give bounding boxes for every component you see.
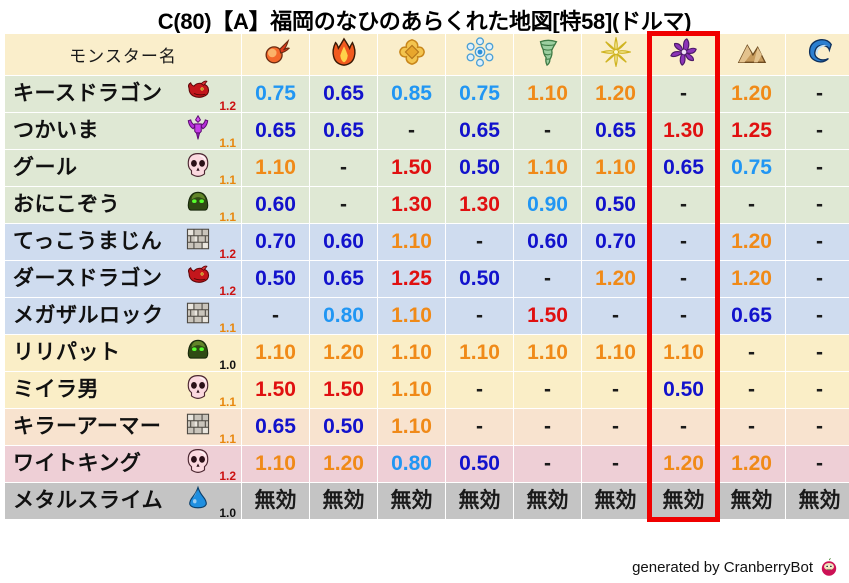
resistance-cell: - bbox=[718, 335, 785, 371]
resistance-cell: 0.50 bbox=[446, 150, 513, 186]
resistance-cell: 無効 bbox=[514, 483, 581, 519]
resistance-cell: 0.85 bbox=[378, 76, 445, 112]
resistance-cell: 1.10 bbox=[582, 150, 649, 186]
resistance-cell: - bbox=[786, 113, 849, 149]
column-header-zaki-tornado-icon[interactable] bbox=[514, 34, 581, 75]
monster-name-cell[interactable]: てっこうまじん1.2 bbox=[5, 224, 241, 260]
resistance-cell: 0.90 bbox=[514, 187, 581, 223]
resistance-cell: 1.10 bbox=[582, 335, 649, 371]
column-header-monster-name: モンスター名 bbox=[5, 34, 241, 75]
monster-name-cell[interactable]: おにこぞう1.1 bbox=[5, 187, 241, 223]
column-header-mera-fireball-icon[interactable] bbox=[242, 34, 309, 75]
table-row: メガザルロック1.1-0.801.10-1.50--0.65- bbox=[5, 298, 849, 334]
resistance-cell: - bbox=[582, 446, 649, 482]
resistance-cell: - bbox=[786, 150, 849, 186]
resistance-cell: - bbox=[786, 261, 849, 297]
resistance-cell: - bbox=[650, 224, 717, 260]
column-header-dein-starburst-icon[interactable] bbox=[582, 34, 649, 75]
jibariki-earth-icon bbox=[737, 37, 767, 67]
skull-icon bbox=[185, 448, 211, 474]
resistance-cell: - bbox=[514, 446, 581, 482]
monster-multiplier-badge: 1.1 bbox=[219, 174, 236, 186]
column-header-bagi-snowflake-icon[interactable] bbox=[446, 34, 513, 75]
resistance-cell: 1.10 bbox=[514, 76, 581, 112]
table-row: ダースドラゴン1.20.500.651.250.50-1.20-1.20- bbox=[5, 261, 849, 297]
monster-multiplier-badge: 1.1 bbox=[219, 396, 236, 408]
resistance-cell: 1.30 bbox=[650, 113, 717, 149]
resistance-cell: 0.50 bbox=[310, 409, 377, 445]
resistance-cell: 0.75 bbox=[446, 76, 513, 112]
resistance-cell: 1.50 bbox=[378, 150, 445, 186]
purple-trident-icon bbox=[185, 115, 211, 141]
monster-name-label: ダースドラゴン bbox=[13, 261, 162, 297]
resistance-cell: 1.20 bbox=[650, 446, 717, 482]
resistance-cell: 0.65 bbox=[446, 113, 513, 149]
resistance-cell: 1.10 bbox=[514, 335, 581, 371]
resistance-cell: 1.20 bbox=[582, 261, 649, 297]
table-row: キラーアーマー1.10.650.501.10------ bbox=[5, 409, 849, 445]
resistance-cell: - bbox=[446, 372, 513, 408]
resistance-cell: 1.20 bbox=[582, 76, 649, 112]
footer-credit: generated by CranberryBot bbox=[632, 557, 839, 577]
page-title: C(80)【A】福岡のなひのあらくれた地図[特58](ドルマ) bbox=[0, 4, 849, 36]
monster-multiplier-badge: 1.2 bbox=[219, 248, 236, 260]
monster-name-label: つかいま bbox=[13, 113, 99, 149]
resistance-cell: 0.50 bbox=[242, 261, 309, 297]
resistance-cell: 1.20 bbox=[310, 446, 377, 482]
resistance-cell: 1.30 bbox=[446, 187, 513, 223]
zaki-tornado-icon bbox=[533, 37, 563, 67]
monster-name-cell[interactable]: グール1.1 bbox=[5, 150, 241, 186]
resistance-cell: 無効 bbox=[786, 483, 849, 519]
merazoma-wave-icon bbox=[805, 37, 835, 67]
monster-name-label: ワイトキング bbox=[13, 446, 141, 482]
green-slime-icon bbox=[185, 337, 211, 363]
resistance-cell: - bbox=[786, 409, 849, 445]
monster-name-cell[interactable]: キラーアーマー1.1 bbox=[5, 409, 241, 445]
resistance-cell: - bbox=[786, 446, 849, 482]
resistance-cell: 1.20 bbox=[310, 335, 377, 371]
monster-multiplier-badge: 1.1 bbox=[219, 322, 236, 334]
resistance-cell: - bbox=[650, 298, 717, 334]
monster-name-label: リリパット bbox=[13, 335, 121, 371]
brick-wall-icon bbox=[185, 226, 211, 252]
resistance-cell: 0.65 bbox=[242, 409, 309, 445]
resistance-cell: - bbox=[514, 113, 581, 149]
monster-name-cell[interactable]: ダースドラゴン1.2 bbox=[5, 261, 241, 297]
dorma-icon bbox=[669, 37, 699, 67]
resistance-cell: - bbox=[650, 409, 717, 445]
monster-multiplier-badge: 1.0 bbox=[219, 359, 236, 371]
resistance-cell: 0.80 bbox=[310, 298, 377, 334]
resistance-cell: 1.20 bbox=[718, 76, 785, 112]
resistance-cell: - bbox=[446, 224, 513, 260]
table-row: キースドラゴン1.20.750.650.850.751.101.20-1.20- bbox=[5, 76, 849, 112]
monster-name-label: グール bbox=[13, 150, 78, 186]
resistance-cell: 1.10 bbox=[650, 335, 717, 371]
resistance-cell: - bbox=[786, 372, 849, 408]
resistance-cell: 0.65 bbox=[242, 113, 309, 149]
resistance-cell: 0.70 bbox=[242, 224, 309, 260]
table-row: ミイラ男1.11.501.501.10---0.50-- bbox=[5, 372, 849, 408]
dragon-head-icon bbox=[185, 78, 211, 104]
monster-name-cell[interactable]: ミイラ男1.1 bbox=[5, 372, 241, 408]
resistance-cell: - bbox=[446, 298, 513, 334]
monster-multiplier-badge: 1.1 bbox=[219, 137, 236, 149]
green-slime-icon bbox=[185, 189, 211, 215]
monster-resistance-table: モンスター名 キースドラゴン1.20.750.650.850.751.101.2… bbox=[4, 33, 849, 520]
table-row: つかいま1.10.650.65-0.65-0.651.301.25- bbox=[5, 113, 849, 149]
resistance-cell: - bbox=[786, 298, 849, 334]
resistance-cell: - bbox=[446, 409, 513, 445]
resistance-cell: 0.50 bbox=[582, 187, 649, 223]
mera-fireball-icon bbox=[261, 37, 291, 67]
monster-name-cell[interactable]: メガザルロック1.1 bbox=[5, 298, 241, 334]
column-header-gira-flame-icon[interactable] bbox=[310, 34, 377, 75]
resistance-cell: - bbox=[650, 187, 717, 223]
resistance-cell: - bbox=[582, 372, 649, 408]
resistance-cell: - bbox=[514, 409, 581, 445]
blue-slime-icon bbox=[185, 485, 211, 511]
resistance-cell: 1.30 bbox=[378, 187, 445, 223]
resistance-cell: - bbox=[786, 76, 849, 112]
resistance-cell: 0.75 bbox=[242, 76, 309, 112]
monster-name-label: ミイラ男 bbox=[13, 372, 99, 408]
resistance-cell: 0.65 bbox=[310, 113, 377, 149]
resistance-cell: 1.20 bbox=[718, 261, 785, 297]
resistance-cell: 0.50 bbox=[446, 446, 513, 482]
monster-name-cell[interactable]: ワイトキング1.2 bbox=[5, 446, 241, 482]
resistance-cell: 1.10 bbox=[242, 446, 309, 482]
resistance-cell: - bbox=[378, 113, 445, 149]
resistance-cell: 1.10 bbox=[378, 298, 445, 334]
resistance-cell: 1.20 bbox=[718, 446, 785, 482]
gira-flame-icon bbox=[329, 37, 359, 67]
resistance-cell: 無効 bbox=[310, 483, 377, 519]
resistance-cell: 0.60 bbox=[242, 187, 309, 223]
monster-multiplier-badge: 1.0 bbox=[219, 507, 236, 519]
resistance-cell: 無効 bbox=[242, 483, 309, 519]
resistance-cell: 0.65 bbox=[582, 113, 649, 149]
column-header-dorma-icon[interactable] bbox=[650, 34, 717, 75]
resistance-cell: 0.65 bbox=[310, 261, 377, 297]
monster-multiplier-badge: 1.2 bbox=[219, 470, 236, 482]
resistance-cell: 無効 bbox=[446, 483, 513, 519]
resistance-cell: 1.25 bbox=[378, 261, 445, 297]
monster-name-label: メタルスライム bbox=[13, 483, 163, 519]
cranberry-icon bbox=[819, 557, 839, 577]
monster-name-cell[interactable]: つかいま1.1 bbox=[5, 113, 241, 149]
monster-name-label: キラーアーマー bbox=[13, 409, 161, 445]
brick-wall-icon bbox=[185, 411, 211, 437]
resistance-cell: 1.10 bbox=[242, 150, 309, 186]
monster-name-label: おにこぞう bbox=[13, 187, 120, 223]
table-row: おにこぞう1.10.60-1.301.300.900.50--- bbox=[5, 187, 849, 223]
resistance-cell: 0.60 bbox=[310, 224, 377, 260]
table-row: てっこうまじん1.20.700.601.10-0.600.70-1.20- bbox=[5, 224, 849, 260]
resistance-cell: 1.50 bbox=[310, 372, 377, 408]
resistance-cell: - bbox=[786, 335, 849, 371]
resistance-cell: 1.10 bbox=[378, 372, 445, 408]
resistance-cell: 無効 bbox=[650, 483, 717, 519]
monster-multiplier-badge: 1.1 bbox=[219, 433, 236, 445]
resistance-cell: - bbox=[310, 187, 377, 223]
resistance-cell: 1.10 bbox=[242, 335, 309, 371]
skull-icon bbox=[185, 152, 211, 178]
resistance-cell: 1.10 bbox=[378, 335, 445, 371]
dein-starburst-icon bbox=[601, 37, 631, 67]
resistance-cell: - bbox=[718, 409, 785, 445]
bagi-snowflake-icon bbox=[465, 37, 495, 67]
resistance-cell: 0.65 bbox=[310, 76, 377, 112]
monster-name-label: メガザルロック bbox=[13, 298, 164, 334]
resistance-cell: 1.20 bbox=[718, 224, 785, 260]
resistance-cell: - bbox=[718, 187, 785, 223]
column-header-merazoma-wave-icon[interactable] bbox=[786, 34, 849, 75]
table-header-row: モンスター名 bbox=[5, 34, 849, 75]
table-row: ワイトキング1.21.101.200.800.50--1.201.20- bbox=[5, 446, 849, 482]
monster-multiplier-badge: 1.2 bbox=[219, 100, 236, 112]
resistance-cell: 0.50 bbox=[446, 261, 513, 297]
resistance-table-page: C(80)【A】福岡のなひのあらくれた地図[特58](ドルマ) モンスター名 キ… bbox=[0, 0, 849, 583]
resistance-cell: 無効 bbox=[582, 483, 649, 519]
monster-name-cell[interactable]: キースドラゴン1.2 bbox=[5, 76, 241, 112]
resistance-cell: 0.65 bbox=[650, 150, 717, 186]
resistance-cell: 1.10 bbox=[378, 409, 445, 445]
resistance-cell: 1.10 bbox=[514, 150, 581, 186]
resistance-cell: - bbox=[582, 409, 649, 445]
monster-name-cell[interactable]: メタルスライム1.0 bbox=[5, 483, 241, 519]
resistance-cell: 1.50 bbox=[242, 372, 309, 408]
resistance-cell: 1.25 bbox=[718, 113, 785, 149]
resistance-cell: 0.65 bbox=[718, 298, 785, 334]
monster-name-label: キースドラゴン bbox=[13, 76, 162, 112]
table-row: メタルスライム1.0無効無効無効無効無効無効無効無効無効 bbox=[5, 483, 849, 519]
monster-name-cell[interactable]: リリパット1.0 bbox=[5, 335, 241, 371]
footer-text: generated by CranberryBot bbox=[632, 559, 813, 576]
resistance-cell: 0.75 bbox=[718, 150, 785, 186]
resistance-cell: - bbox=[310, 150, 377, 186]
column-header-hyado-ice-icon[interactable] bbox=[378, 34, 445, 75]
hyado-ice-icon bbox=[397, 37, 427, 67]
resistance-cell: 無効 bbox=[378, 483, 445, 519]
resistance-cell: 0.70 bbox=[582, 224, 649, 260]
resistance-cell: - bbox=[650, 261, 717, 297]
resistance-cell: - bbox=[242, 298, 309, 334]
resistance-cell: 0.80 bbox=[378, 446, 445, 482]
resistance-cell: - bbox=[786, 187, 849, 223]
monster-name-label: てっこうまじん bbox=[13, 224, 162, 260]
resistance-cell: - bbox=[650, 76, 717, 112]
resistance-cell: 1.10 bbox=[446, 335, 513, 371]
skull-icon bbox=[185, 374, 211, 400]
resistance-cell: - bbox=[582, 298, 649, 334]
resistance-cell: - bbox=[514, 261, 581, 297]
resistance-cell: 0.60 bbox=[514, 224, 581, 260]
brick-wall-icon bbox=[185, 300, 211, 326]
resistance-cell: - bbox=[786, 224, 849, 260]
resistance-cell: 無効 bbox=[718, 483, 785, 519]
dragon-head-icon bbox=[185, 263, 211, 289]
monster-multiplier-badge: 1.2 bbox=[219, 285, 236, 297]
table-body: キースドラゴン1.20.750.650.850.751.101.20-1.20-… bbox=[5, 76, 849, 519]
table-row: リリパット1.01.101.201.101.101.101.101.10-- bbox=[5, 335, 849, 371]
resistance-cell: - bbox=[718, 372, 785, 408]
resistance-cell: 0.50 bbox=[650, 372, 717, 408]
resistance-cell: 1.50 bbox=[514, 298, 581, 334]
resistance-cell: - bbox=[514, 372, 581, 408]
table-row: グール1.11.10-1.500.501.101.100.650.75- bbox=[5, 150, 849, 186]
monster-multiplier-badge: 1.1 bbox=[219, 211, 236, 223]
resistance-cell: 1.10 bbox=[378, 224, 445, 260]
column-header-jibariki-earth-icon[interactable] bbox=[718, 34, 785, 75]
